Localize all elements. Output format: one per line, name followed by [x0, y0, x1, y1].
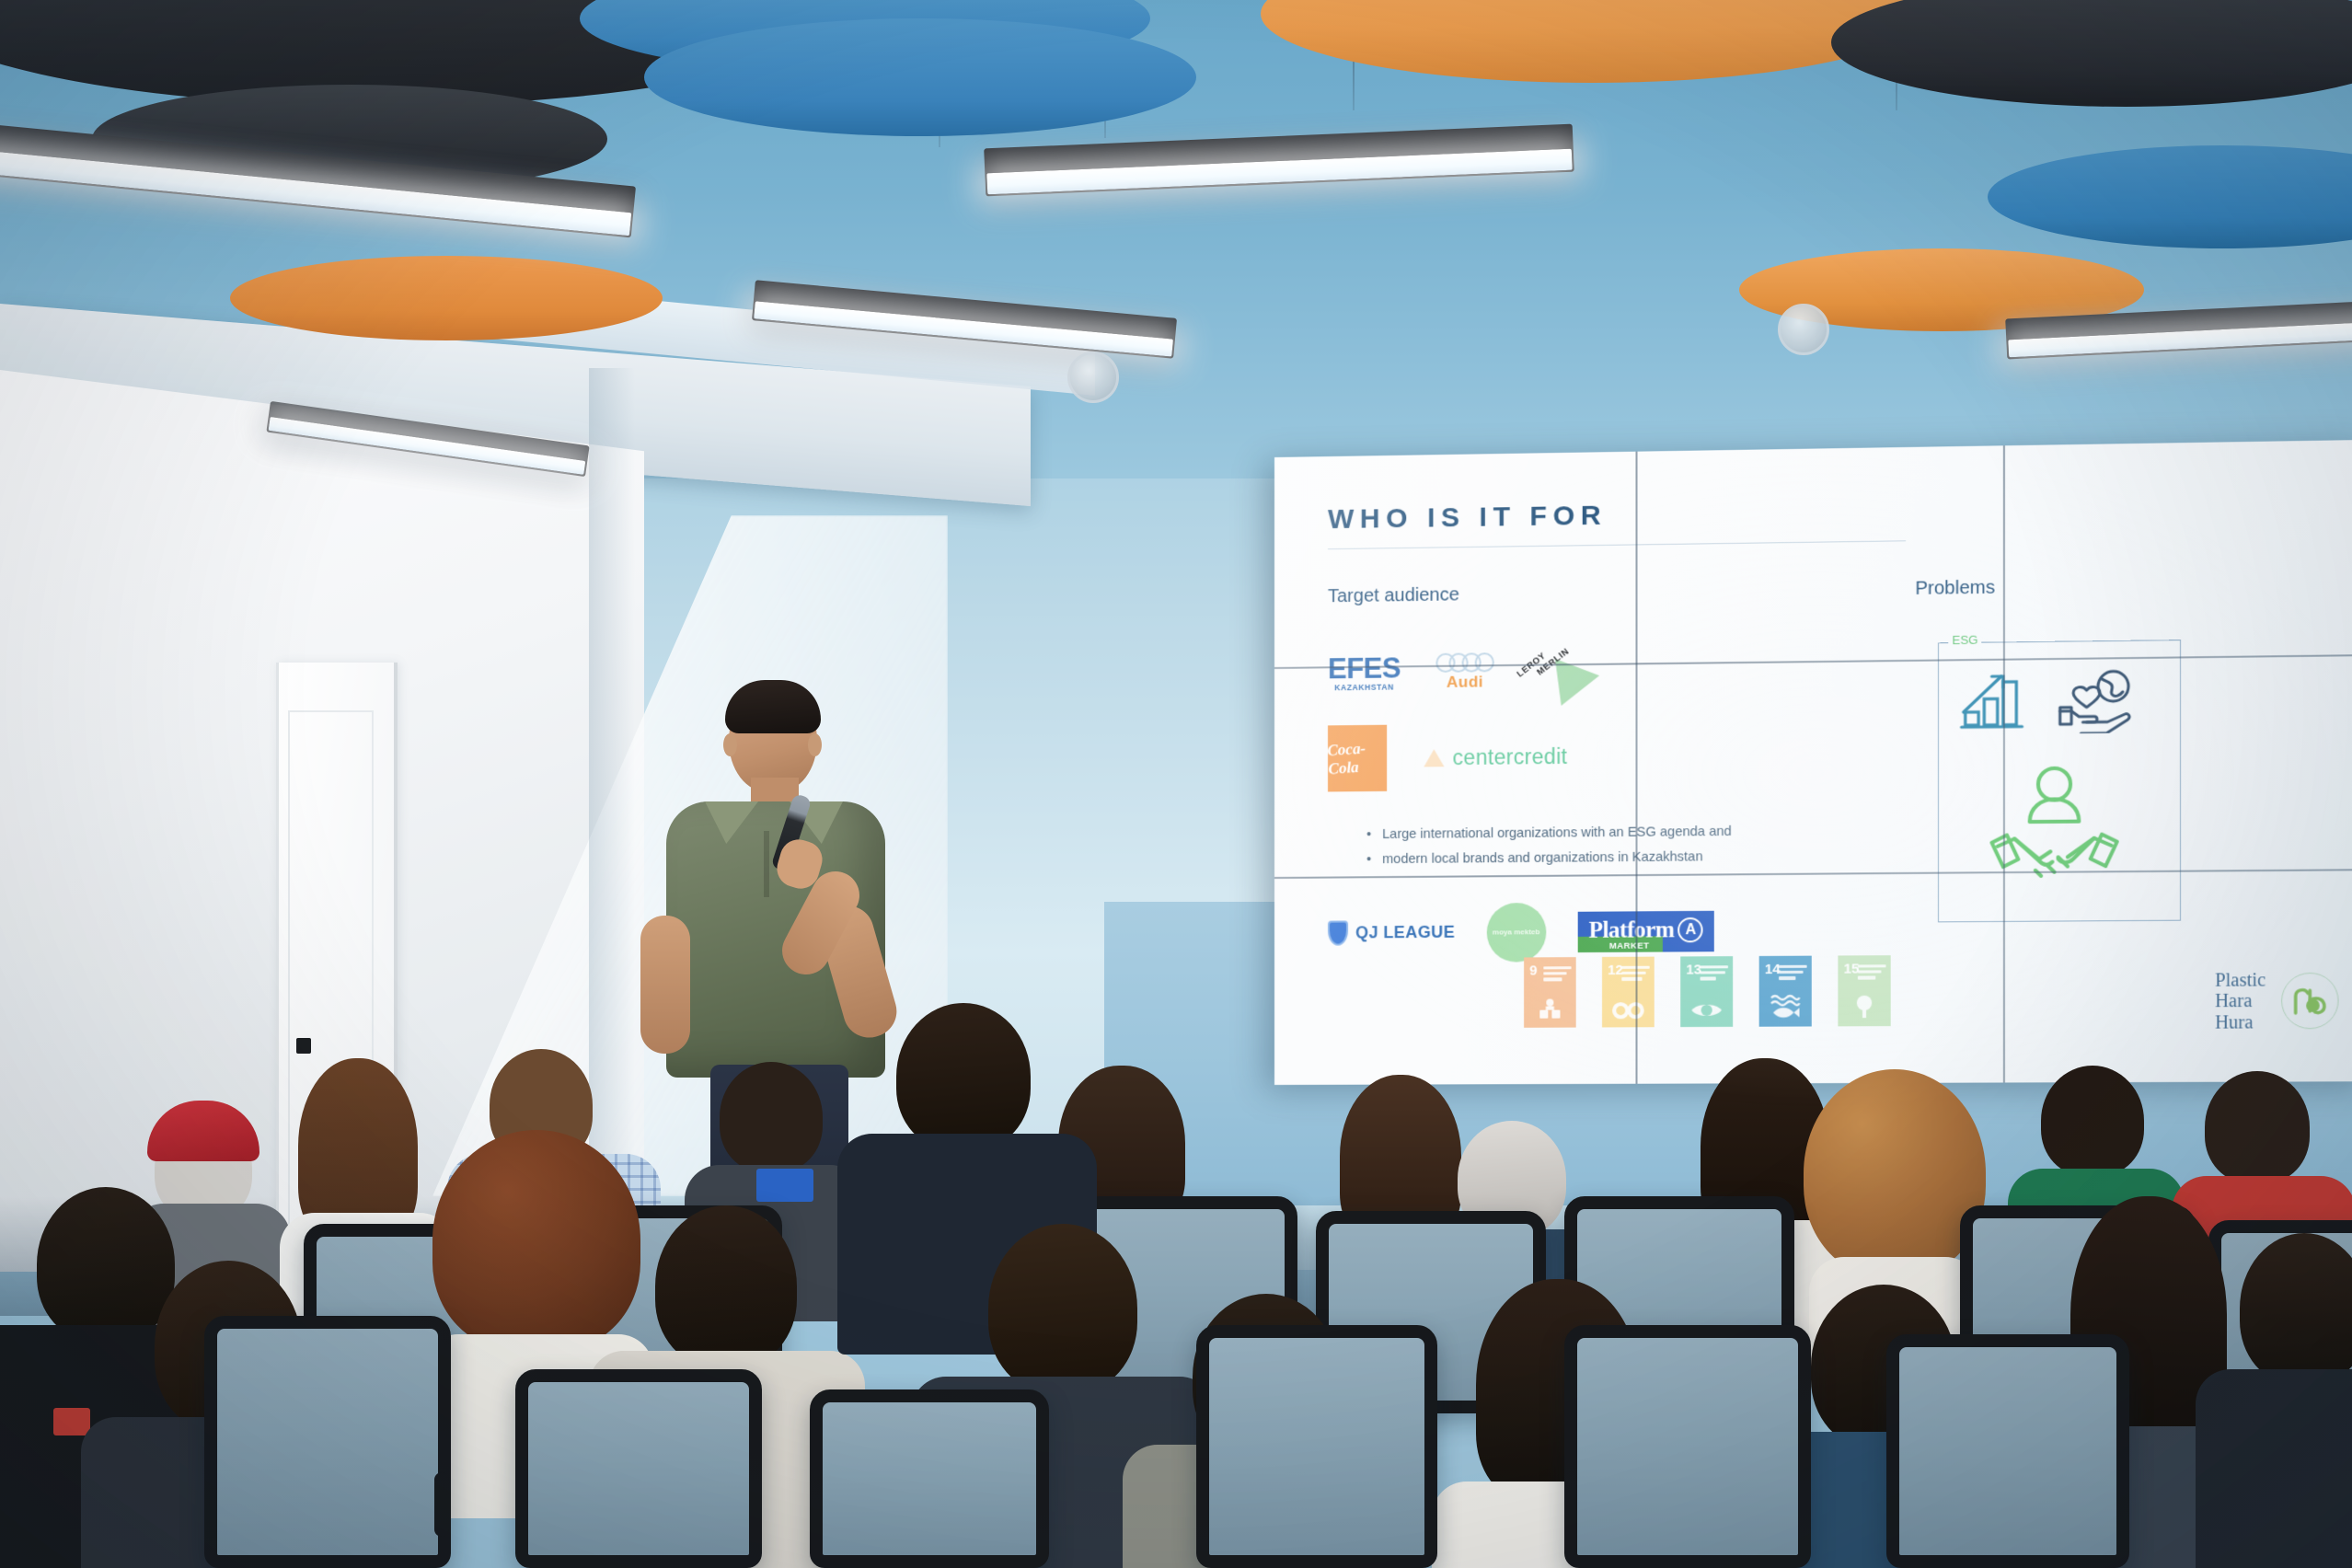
sdg-goal-14: 14	[1759, 956, 1812, 1027]
fish-waves-icon	[1769, 992, 1803, 1020]
sdg-caption	[1858, 962, 1886, 979]
ceiling-speaker	[1778, 304, 1829, 355]
phh-wordmark: Plastic Hara Hura	[2215, 970, 2266, 1033]
ceiling-speaker	[1067, 352, 1119, 403]
chair[interactable]	[204, 1316, 451, 1568]
problems-heading: Problems	[1915, 573, 2336, 600]
sdg-goals-row: 9 12	[1524, 955, 1891, 1028]
red-cap	[147, 1101, 259, 1161]
plastic-leaf-icon	[2288, 981, 2332, 1020]
brand-logos-row-2: Coca-Cola centercredit	[1328, 720, 1850, 791]
infinity-icon	[1611, 1000, 1644, 1020]
centercredit-wordmark: centercredit	[1453, 744, 1568, 769]
centercredit-triangle-icon	[1424, 749, 1444, 767]
chair[interactable]	[515, 1369, 762, 1568]
presenter-arm-left	[640, 916, 690, 1054]
platform-market-label: MARKET	[1609, 940, 1650, 951]
industry-icon	[1537, 997, 1562, 1020]
sdg-caption	[1543, 963, 1571, 981]
brand-logos-row-3: QJ LEAGUE moya mekteb Platform A MARKET	[1328, 900, 1850, 963]
efes-logo: EFES KAZAKHSTAN	[1328, 655, 1401, 692]
sdg-caption	[1779, 963, 1807, 980]
platform-a-badge: A	[1678, 917, 1703, 942]
conference-room-photo: WHO IS IT FOR Target audience EFES KAZAK…	[0, 0, 2352, 1568]
slide-columns: Target audience EFES KAZAKHSTAN Audi	[1328, 573, 2337, 963]
phh-line-3: Hura	[2215, 1012, 2266, 1033]
chair[interactable]	[810, 1389, 1049, 1568]
audi-logo: Audi	[1435, 652, 1493, 692]
presenter-placket	[764, 831, 769, 897]
centercredit-logo: centercredit	[1424, 744, 1567, 770]
mekteb-wordmark: moya mekteb	[1493, 928, 1540, 936]
esg-panel: ESG	[1938, 640, 2181, 922]
efes-wordmark: EFES	[1328, 655, 1401, 683]
mekteb-logo: moya mekteb	[1486, 903, 1546, 963]
coca-cola-wordmark: Coca-Cola	[1327, 738, 1388, 778]
chair[interactable]	[1564, 1325, 1811, 1568]
hand-holding-earth-icon	[2055, 667, 2142, 733]
list-item: Large international organizations with a…	[1365, 819, 1850, 847]
platform-wordmark: Platform	[1588, 917, 1674, 944]
qj-league-logo: QJ LEAGUE	[1328, 920, 1455, 946]
attendee-edge-right	[2218, 1233, 2352, 1568]
title-divider	[1328, 540, 1906, 549]
sdg-goal-13: 13	[1680, 956, 1733, 1027]
coca-cola-logo: Coca-Cola	[1328, 725, 1387, 792]
audi-rings-icon	[1435, 652, 1493, 673]
lanyard	[756, 1169, 813, 1202]
target-audience-heading: Target audience	[1328, 580, 1850, 608]
plastic-hara-hura-logo: Plastic Hara Hura	[2215, 970, 2339, 1033]
presentation-slide: WHO IS IT FOR Target audience EFES KAZAK…	[1274, 440, 2352, 1085]
video-wall-bezel-vertical	[2003, 445, 2005, 1082]
tshirt-logo	[53, 1408, 90, 1435]
chair[interactable]	[1196, 1325, 1437, 1568]
brand-logos-row-1: EFES KAZAKHSTAN Audi LEROY MERLIN	[1328, 641, 1850, 699]
presenter-hair	[725, 680, 821, 733]
esg-icon-group	[1939, 640, 2180, 921]
phh-line-2: Hara	[2215, 991, 2266, 1012]
shield-icon	[1328, 921, 1348, 946]
tree-icon	[1852, 994, 1877, 1020]
efes-subtext: KAZAKHSTAN	[1334, 682, 1394, 692]
audience-bullet-list: Large international organizations with a…	[1328, 819, 1850, 873]
list-item: modern local brands and organizations in…	[1365, 844, 1850, 872]
presenter-ear-left	[723, 733, 737, 756]
chair[interactable]	[1886, 1334, 2129, 1568]
sdg-caption	[1701, 963, 1729, 980]
platform-a-logo: Platform A MARKET	[1577, 910, 1714, 951]
leroy-merlin-logo: LEROY MERLIN	[1519, 627, 1610, 715]
acoustic-disc-orange-1	[230, 256, 663, 340]
eye-earth-icon	[1689, 1000, 1724, 1020]
sdg-goal-15: 15	[1838, 955, 1890, 1026]
slide-title: WHO IS IT FOR	[1328, 490, 2337, 536]
presenter-ear-right	[808, 733, 822, 756]
sdg-goal-12: 12	[1602, 957, 1654, 1028]
target-audience-column: Target audience EFES KAZAKHSTAN Audi	[1328, 580, 1850, 963]
video-wall-bezel-vertical	[1635, 452, 1637, 1084]
phh-line-1: Plastic	[2215, 970, 2266, 991]
sdg-goal-9: 9	[1524, 957, 1576, 1028]
phh-mark	[2281, 973, 2339, 1030]
growth-chart-icon	[1955, 669, 2027, 735]
door-lock-icon[interactable]	[296, 1038, 311, 1054]
audi-wordmark: Audi	[1447, 673, 1483, 692]
qj-league-wordmark: QJ LEAGUE	[1355, 923, 1455, 943]
video-wall[interactable]: WHO IS IT FOR Target audience EFES KAZAK…	[1274, 440, 2352, 1085]
